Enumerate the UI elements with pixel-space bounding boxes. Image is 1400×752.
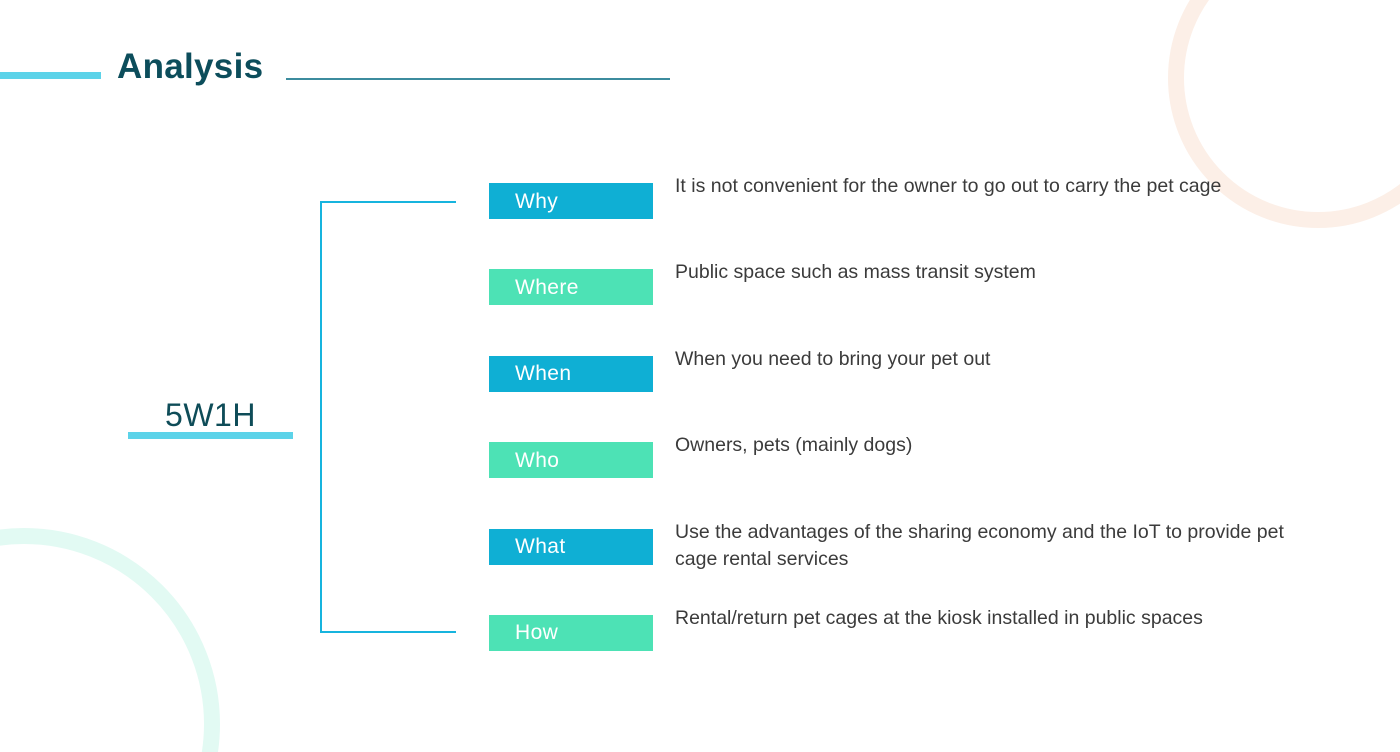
analysis-row: Where Public space such as mass transit … <box>489 269 1369 355</box>
decorative-ring-mint-icon <box>0 528 220 752</box>
row-badge-label: When <box>515 363 571 384</box>
bracket-connector <box>320 201 456 633</box>
row-badge-label: How <box>515 622 558 643</box>
row-description: When you need to bring your pet out <box>675 346 1315 373</box>
root-node-label: 5W1H <box>128 396 293 434</box>
analysis-row: Why It is not convenient for the owner t… <box>489 183 1369 269</box>
row-description: Owners, pets (mainly dogs) <box>675 432 1315 459</box>
row-badge-who[interactable]: Who <box>489 442 653 478</box>
root-node: 5W1H <box>128 396 293 439</box>
slide-canvas: Analysis 5W1H Why It is not convenient f… <box>0 0 1400 752</box>
row-badge-when[interactable]: When <box>489 356 653 392</box>
analysis-row: How Rental/return pet cages at the kiosk… <box>489 615 1369 701</box>
analysis-row-list: Why It is not convenient for the owner t… <box>489 183 1369 701</box>
row-badge-where[interactable]: Where <box>489 269 653 305</box>
row-badge-label: Who <box>515 450 559 471</box>
row-badge-label: Where <box>515 277 579 298</box>
row-badge-label: Why <box>515 191 558 212</box>
row-description: Rental/return pet cages at the kiosk ins… <box>675 605 1315 632</box>
header-accent-bar <box>0 72 101 79</box>
analysis-row: What Use the advantages of the sharing e… <box>489 529 1369 615</box>
row-description: Public space such as mass transit system <box>675 259 1315 286</box>
analysis-row: Who Owners, pets (mainly dogs) <box>489 442 1369 528</box>
page-title: Analysis <box>117 44 263 90</box>
header-divider-rule <box>286 78 670 80</box>
row-badge-label: What <box>515 536 566 557</box>
row-description: Use the advantages of the sharing econom… <box>675 519 1315 573</box>
row-badge-why[interactable]: Why <box>489 183 653 219</box>
analysis-row: When When you need to bring your pet out <box>489 356 1369 442</box>
row-badge-what[interactable]: What <box>489 529 653 565</box>
row-badge-how[interactable]: How <box>489 615 653 651</box>
row-description: It is not convenient for the owner to go… <box>675 173 1315 200</box>
